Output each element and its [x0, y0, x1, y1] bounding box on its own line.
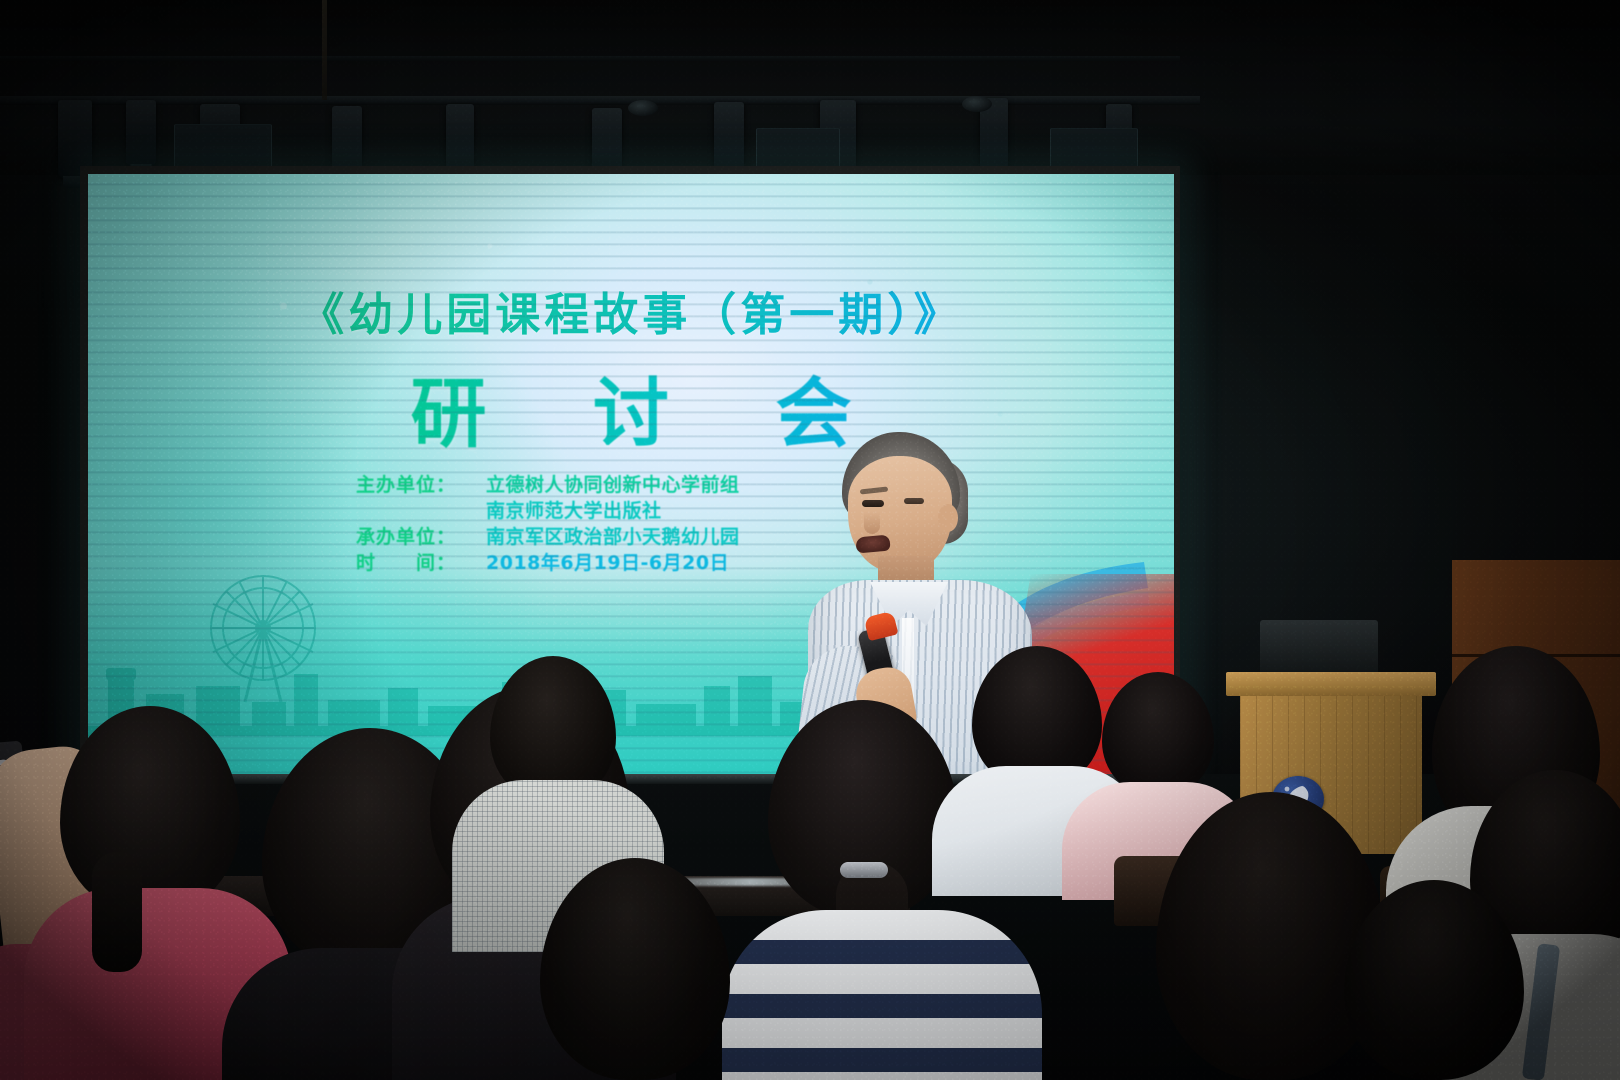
ceiling — [0, 0, 1620, 175]
lighting-truss — [0, 96, 1200, 105]
stage-light-head-icon — [628, 100, 658, 116]
lectern-mic-panel — [1260, 620, 1378, 674]
speaker-eye-left — [862, 500, 884, 507]
stage-light-head-icon — [962, 96, 992, 112]
speaker-ear — [938, 504, 958, 532]
audience-ponytail — [92, 852, 142, 972]
conference-photo: 《幼儿园课程故事（第一期）》 研 讨 会 主办单位： 立德树人协同创新中心学前组… — [0, 0, 1620, 1080]
lighting-truss-upper — [0, 56, 1180, 61]
speaker-mouth — [855, 535, 890, 554]
hair-tie — [840, 862, 888, 878]
lectern-top — [1226, 672, 1436, 696]
cable-drop — [322, 0, 327, 100]
audience-body-striped — [722, 910, 1042, 1080]
stage-light-icon — [126, 100, 156, 166]
speaker-nose — [864, 512, 880, 534]
speaker-eye-right — [904, 498, 924, 504]
